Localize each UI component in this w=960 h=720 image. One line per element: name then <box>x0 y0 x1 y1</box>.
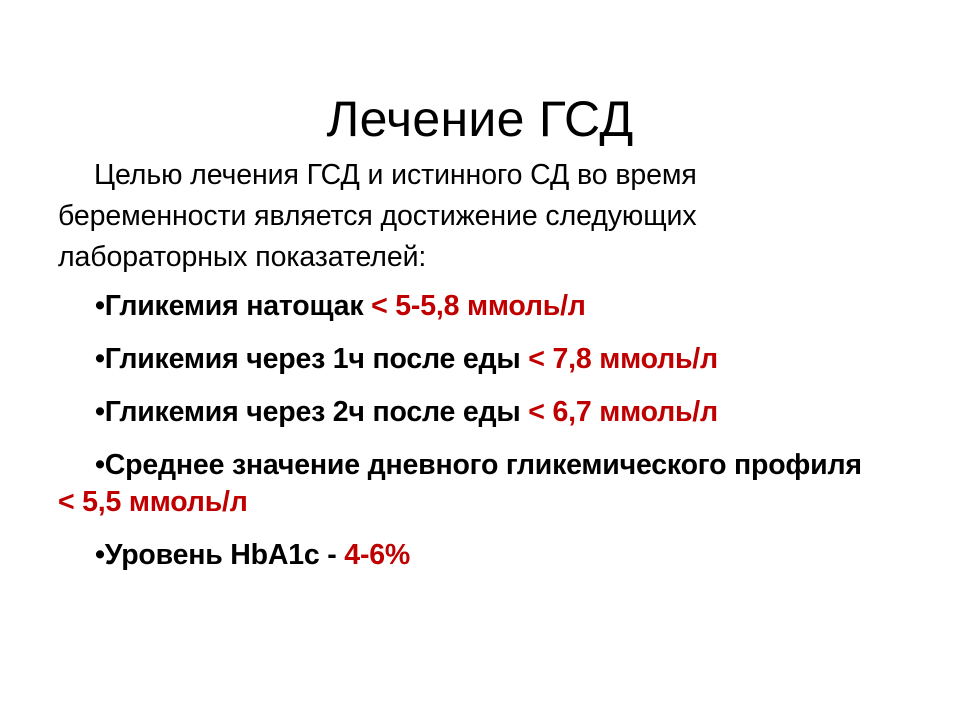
bullet-dot-icon: • <box>95 396 105 428</box>
slide-body: Целью лечения ГСД и истинного СД во врем… <box>58 155 878 574</box>
bullet-label: Гликемия через 2ч после еды <box>105 396 529 428</box>
list-item: •Гликемия натощак < 5-5,8 ммоль/л <box>58 288 878 325</box>
bullet-label: Гликемия натощак <box>105 290 371 322</box>
slide-canvas: Лечение ГСД Целью лечения ГСД и истинног… <box>0 0 960 720</box>
bullet-value: < 6,7 ммоль/л <box>528 396 718 428</box>
bullet-dot-icon: • <box>95 539 105 571</box>
bullet-dot-icon: • <box>95 343 105 375</box>
bullet-value: < 5-5,8 ммоль/л <box>371 290 586 322</box>
list-item: •Гликемия через 1ч после еды < 7,8 ммоль… <box>58 341 878 378</box>
bullet-value: < 7,8 ммоль/л <box>528 343 718 375</box>
bullet-value: < 5,5 ммоль/л <box>58 486 248 518</box>
target-values-list: •Гликемия натощак < 5-5,8 ммоль/л •Глике… <box>58 288 878 574</box>
page-title: Лечение ГСД <box>0 92 960 147</box>
bullet-dot-icon: • <box>95 449 105 481</box>
list-item: •Среднее значение дневного гликемическог… <box>58 447 878 521</box>
bullet-label: Гликемия через 1ч после еды <box>105 343 529 375</box>
bullet-label: Уровень HbA1c - <box>105 539 345 571</box>
bullet-value: 4-6% <box>344 539 410 571</box>
list-item: •Гликемия через 2ч после еды < 6,7 ммоль… <box>58 394 878 431</box>
bullet-dot-icon: • <box>95 290 105 322</box>
intro-paragraph: Целью лечения ГСД и истинного СД во врем… <box>58 155 878 278</box>
bullet-label: Среднее значение дневного гликемического… <box>105 449 862 481</box>
list-item: •Уровень HbA1c - 4-6% <box>58 537 878 574</box>
